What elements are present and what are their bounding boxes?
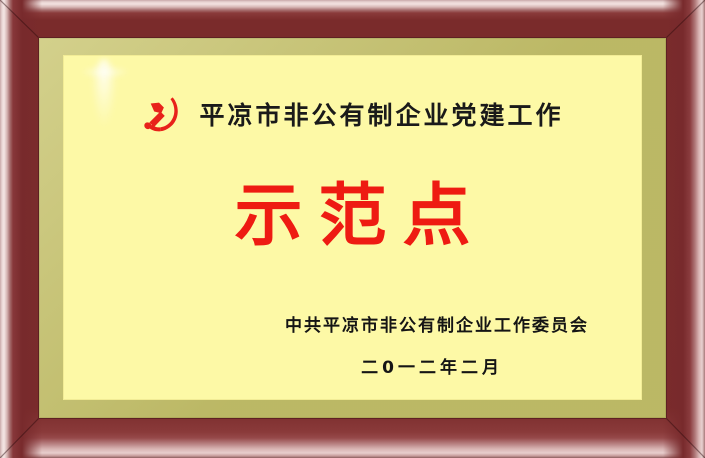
- plaque-panel: 平凉市非公有制企业党建工作 示范点 中共平凉市非公有制企业工作委员会 二0一二年…: [63, 55, 642, 400]
- plaque-content: 平凉市非公有制企业党建工作 示范点 中共平凉市非公有制企业工作委员会 二0一二年…: [63, 55, 642, 400]
- plaque-title: 平凉市非公有制企业党建工作: [199, 103, 563, 128]
- plaque-issuer: 中共平凉市非公有制企业工作委员会: [285, 311, 589, 336]
- award-plaque: 平凉市非公有制企业党建工作 示范点 中共平凉市非公有制企业工作委员会 二0一二年…: [0, 0, 705, 458]
- plaque-mat: 平凉市非公有制企业党建工作 示范点 中共平凉市非公有制企业工作委员会 二0一二年…: [39, 38, 666, 418]
- plaque-date: 二0一二年二月: [361, 353, 503, 378]
- plaque-headline: 示范点: [63, 183, 642, 251]
- hammer-and-sickle-icon: [141, 93, 185, 137]
- plaque-title-row: 平凉市非公有制企业党建工作: [63, 93, 642, 137]
